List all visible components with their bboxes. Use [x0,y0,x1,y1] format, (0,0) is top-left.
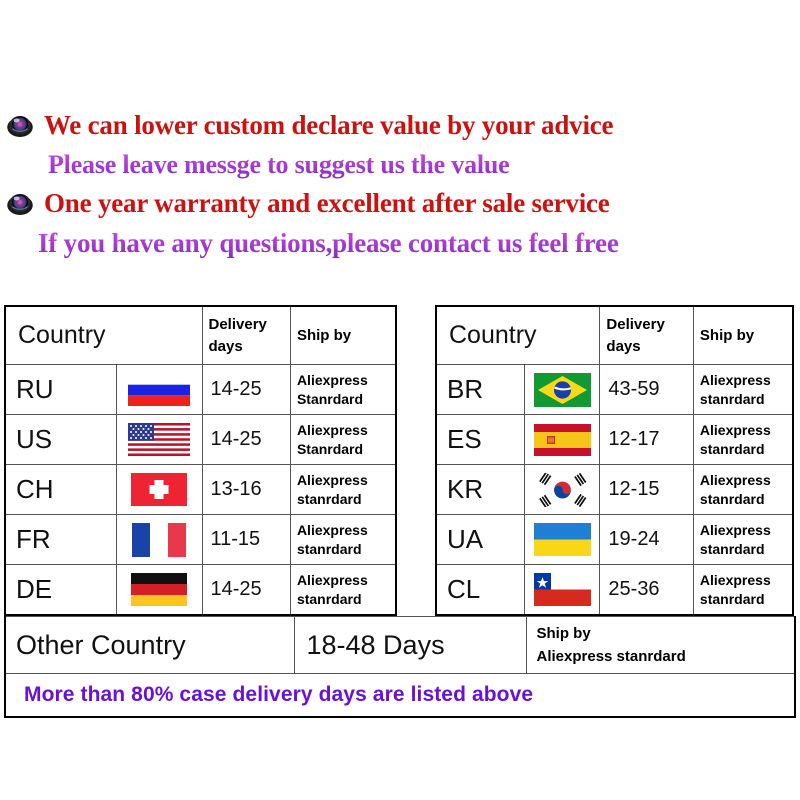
flag-germany-icon [117,565,202,616]
ship-by-line1: Aliexpress [297,471,395,489]
table-row: CL 25-36 Aliexpress stanrdard [436,565,793,616]
ship-by-line1: Aliexpress [700,521,792,539]
ship-by-line2: stanrdard [297,540,395,558]
flag-russia-icon [117,365,202,415]
promo-line: If you have any questions,please contact… [0,226,800,260]
ship-by-line1: Aliexpress [700,471,792,489]
ship-by: Aliexpress stanrdard [693,365,793,415]
flag-spain-icon [524,415,599,465]
header-delivery-days-l1: Delivery [606,316,664,333]
camera-lens-icon [5,190,35,216]
table-row: DE 14-25 Aliexpress stanrdard [5,565,396,616]
ship-by-line2: stanrdard [700,390,792,408]
country-code: KR [436,465,524,515]
ship-by-line1: Aliexpress [297,521,395,539]
other-country-days: 18-48 Days [294,617,526,674]
ship-by-line1: Aliexpress [297,571,395,589]
ship-by-line2: stanrdard [700,490,792,508]
table-row: KR [436,465,793,515]
table-row: CH 13-16 Aliexpress stanrdard [5,465,396,515]
ship-by-line1: Aliexpress [700,371,792,389]
table-row: UA 19-24 Aliexpress stanrdard [436,515,793,565]
other-country-label: Other Country [5,617,294,674]
ship-by-line1: Aliexpress [700,571,792,589]
ship-by: Aliexpress stanrdard [290,515,396,565]
table-row: RU 14-25 Aliexpress Stanrdard [5,365,396,415]
ship-by: Aliexpress stanrdard [693,465,793,515]
shipping-table: Country Delivery days Ship by RU [4,305,796,718]
delivery-days: 11-15 [202,515,290,565]
ship-by-line2: stanrdard [700,440,792,458]
ship-by-line1: Aliexpress [297,371,395,389]
promo-line: We can lower custom declare value by you… [0,108,800,142]
table-header-row: Country Delivery days Ship by [436,306,793,365]
promo-line-text: We can lower custom declare value by you… [44,110,613,141]
table-header-row: Country Delivery days Ship by [5,306,396,365]
header-delivery-days: Delivery days [600,306,694,365]
shipping-table-right: Country Delivery days Ship by BR [435,305,794,616]
ship-by-line2: Stanrdard [297,390,395,408]
delivery-note-row: More than 80% case delivery days are lis… [5,674,795,718]
table-row: ES 12-17 Aliexpress stanrdard [436,415,793,465]
ship-by: Aliexpress stanrdard [290,565,396,616]
delivery-days: 12-15 [600,465,694,515]
delivery-days: 25-36 [600,565,694,616]
ship-by-line2: Stanrdard [297,440,395,458]
delivery-note-cell: More than 80% case delivery days are lis… [5,674,795,718]
delivery-days: 13-16 [202,465,290,515]
flag-switzerland-icon [117,465,202,515]
delivery-days: 43-59 [600,365,694,415]
header-ship-by: Ship by [290,306,396,365]
other-ship-line2: Aliexpress stanrdard [537,645,795,668]
table-row: FR 11-15 Aliexpress stanrdard [5,515,396,565]
camera-lens-icon [5,112,35,138]
table-gap [397,305,435,306]
country-code: US [5,415,117,465]
delivery-note-text: More than 80% case delivery days are lis… [6,683,794,707]
ship-by: Aliexpress Stanrdard [290,365,396,415]
other-country-row: Other Country 18-48 Days Ship by Aliexpr… [5,617,795,674]
flag-brazil-icon [524,365,599,415]
ship-by-line1: Aliexpress [700,421,792,439]
other-country-ship-by: Ship by Aliexpress stanrdard [526,617,795,674]
header-ship-by: Ship by [693,306,793,365]
table-row: US [5,415,396,465]
header-country: Country [5,306,202,365]
ship-by-line2: stanrdard [297,590,395,608]
header-delivery-days-l2: days [606,338,640,355]
other-ship-line1: Ship by [537,622,795,645]
promo-line: Please leave messge to suggest us the va… [0,148,800,182]
promo-line: One year warranty and excellent after sa… [0,186,800,220]
flag-united-states-icon [117,415,202,465]
table-row: BR 43-59 Aliexpress stanrdard [436,365,793,415]
promo-banner: We can lower custom declare value by you… [0,108,800,268]
ship-by-line2: stanrdard [700,540,792,558]
flag-ukraine-icon [524,515,599,565]
ship-by: Aliexpress stanrdard [693,515,793,565]
flag-chile-icon [524,565,599,616]
header-delivery-days-l1: Delivery [209,316,267,333]
country-code: FR [5,515,117,565]
country-code: UA [436,515,524,565]
ship-by: Aliexpress stanrdard [290,465,396,515]
ship-by-line2: stanrdard [297,490,395,508]
ship-by: Aliexpress stanrdard [693,565,793,616]
promo-line-text: Please leave messge to suggest us the va… [48,150,510,180]
ship-by: Aliexpress stanrdard [693,415,793,465]
delivery-days: 14-25 [202,565,290,616]
country-code: CH [5,465,117,515]
header-country: Country [436,306,600,365]
promo-line-text: One year warranty and excellent after sa… [44,188,610,219]
delivery-days: 14-25 [202,415,290,465]
shipping-table-footer: Other Country 18-48 Days Ship by Aliexpr… [4,616,796,718]
delivery-days: 12-17 [600,415,694,465]
ship-by-line1: Aliexpress [297,421,395,439]
delivery-days: 14-25 [202,365,290,415]
header-delivery-days: Delivery days [202,306,290,365]
country-code: ES [436,415,524,465]
flag-france-icon [117,515,202,565]
country-code: DE [5,565,117,616]
country-code: RU [5,365,117,415]
country-code: BR [436,365,524,415]
flag-south-korea-icon [524,465,599,515]
country-code: CL [436,565,524,616]
shipping-table-left: Country Delivery days Ship by RU [4,305,397,616]
ship-by-line2: stanrdard [700,590,792,608]
ship-by: Aliexpress Stanrdard [290,415,396,465]
delivery-days: 19-24 [600,515,694,565]
promo-line-text: If you have any questions,please contact… [38,228,619,259]
header-delivery-days-l2: days [209,338,243,355]
